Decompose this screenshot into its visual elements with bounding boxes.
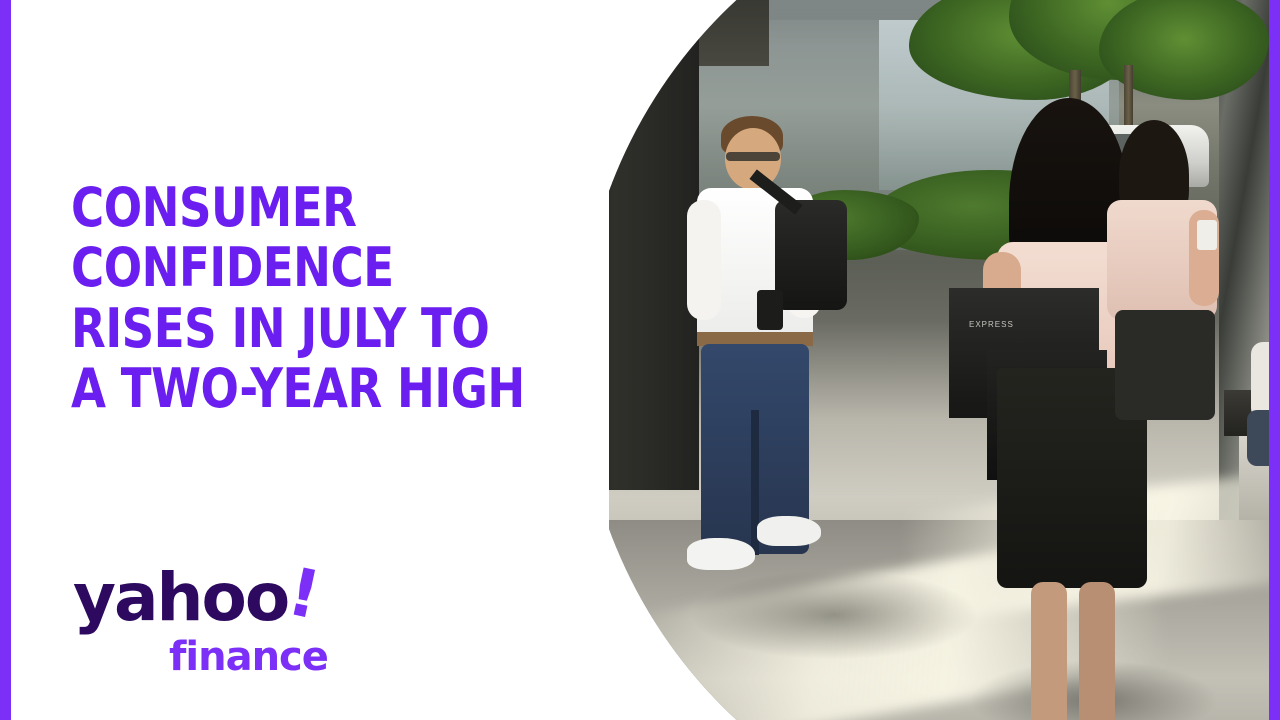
yahoo-finance-logo: yahoo! finance [73,565,373,685]
person-shadow [689,570,979,660]
man-glasses-icon [726,152,780,161]
video-thumbnail: CONSUMER CONFIDENCE RISES IN JULY TO A T… [0,0,1280,720]
woman-leg-right [1079,582,1115,720]
man-shoe-left [687,538,755,570]
structural-column [609,0,699,490]
headline-line-4: A TWO-YEAR HIGH [71,359,601,419]
page-title: CONSUMER CONFIDENCE RISES IN JULY TO A T… [71,178,601,420]
photo-container: I R O [609,0,1269,720]
woman-bg-skirt [1115,310,1215,420]
mall-scene-photo: I R O [609,0,1269,720]
man-phone-icon [757,290,783,330]
headline-panel: CONSUMER CONFIDENCE RISES IN JULY TO A T… [11,0,671,720]
circular-photo-mask: I R O [609,0,1269,720]
headline-line-3: RISES IN JULY TO [71,299,601,359]
woman-bg-phone-icon [1197,220,1217,250]
headline-line-1: CONSUMER [71,178,601,238]
person-seated-legs [1247,410,1269,466]
yahoo-text: yahoo [73,559,288,636]
structural-column-upper [699,0,769,66]
man-arm-left [687,200,721,320]
yahoo-exclamation-icon: ! [283,559,324,629]
headline-line-2: CONFIDENCE [71,238,601,298]
shopping-bag-brand-label: EXPRESS [969,320,1014,329]
person-seated-torso [1251,342,1269,420]
man-shoulder-bag [775,200,847,310]
yahoo-wordmark: yahoo! [73,565,316,631]
finance-wordmark: finance [169,637,328,677]
woman-leg-left [1031,582,1067,720]
man-shoe-right [757,516,821,546]
